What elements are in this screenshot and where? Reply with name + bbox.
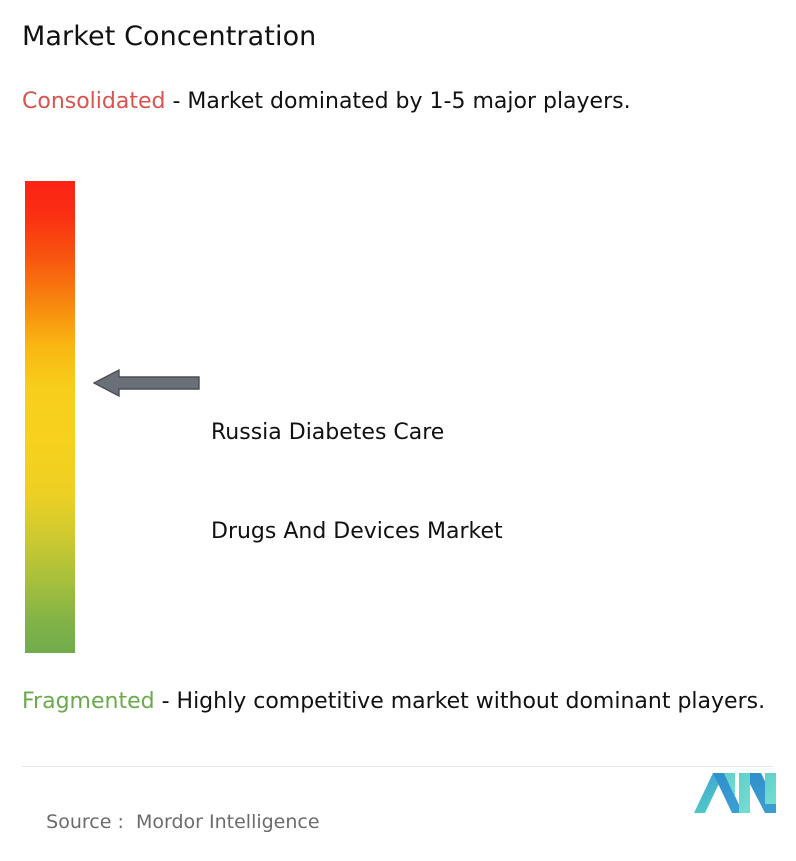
footer-divider <box>22 766 774 767</box>
page-title: Market Concentration <box>22 20 316 54</box>
source-label: Source : <box>46 811 124 833</box>
legend-term-consolidated: Consolidated <box>22 89 165 114</box>
legend-consolidated: Consolidated - Market dominated by 1-5 m… <box>22 86 782 117</box>
market-pointer: Russia Diabetes Care Drugs And Devices M… <box>93 362 693 422</box>
source-value: Mordor Intelligence <box>136 811 320 833</box>
market-pointer-label-line1: Russia Diabetes Care <box>211 416 503 449</box>
legend-term-fragmented: Fragmented <box>22 689 155 714</box>
left-arrow-icon <box>93 368 200 398</box>
concentration-gradient-bar <box>25 181 75 653</box>
legend-description-consolidated: Market dominated by 1-5 major players. <box>187 89 630 114</box>
legend-separator-fragmented: - <box>155 689 177 714</box>
legend-description-fragmented: Highly competitive market without domina… <box>177 689 766 714</box>
legend-fragmented: Fragmented - Highly competitive market w… <box>22 686 787 717</box>
market-pointer-label: Russia Diabetes Care Drugs And Devices M… <box>211 350 503 614</box>
market-concentration-infographic: Market Concentration Consolidated - Mark… <box>0 0 796 834</box>
legend-separator-consolidated: - <box>165 89 187 114</box>
mordor-intelligence-logo-icon <box>694 771 776 813</box>
source-attribution: Source : Mordor Intelligence <box>22 783 320 861</box>
market-pointer-label-line2: Drugs And Devices Market <box>211 515 503 548</box>
